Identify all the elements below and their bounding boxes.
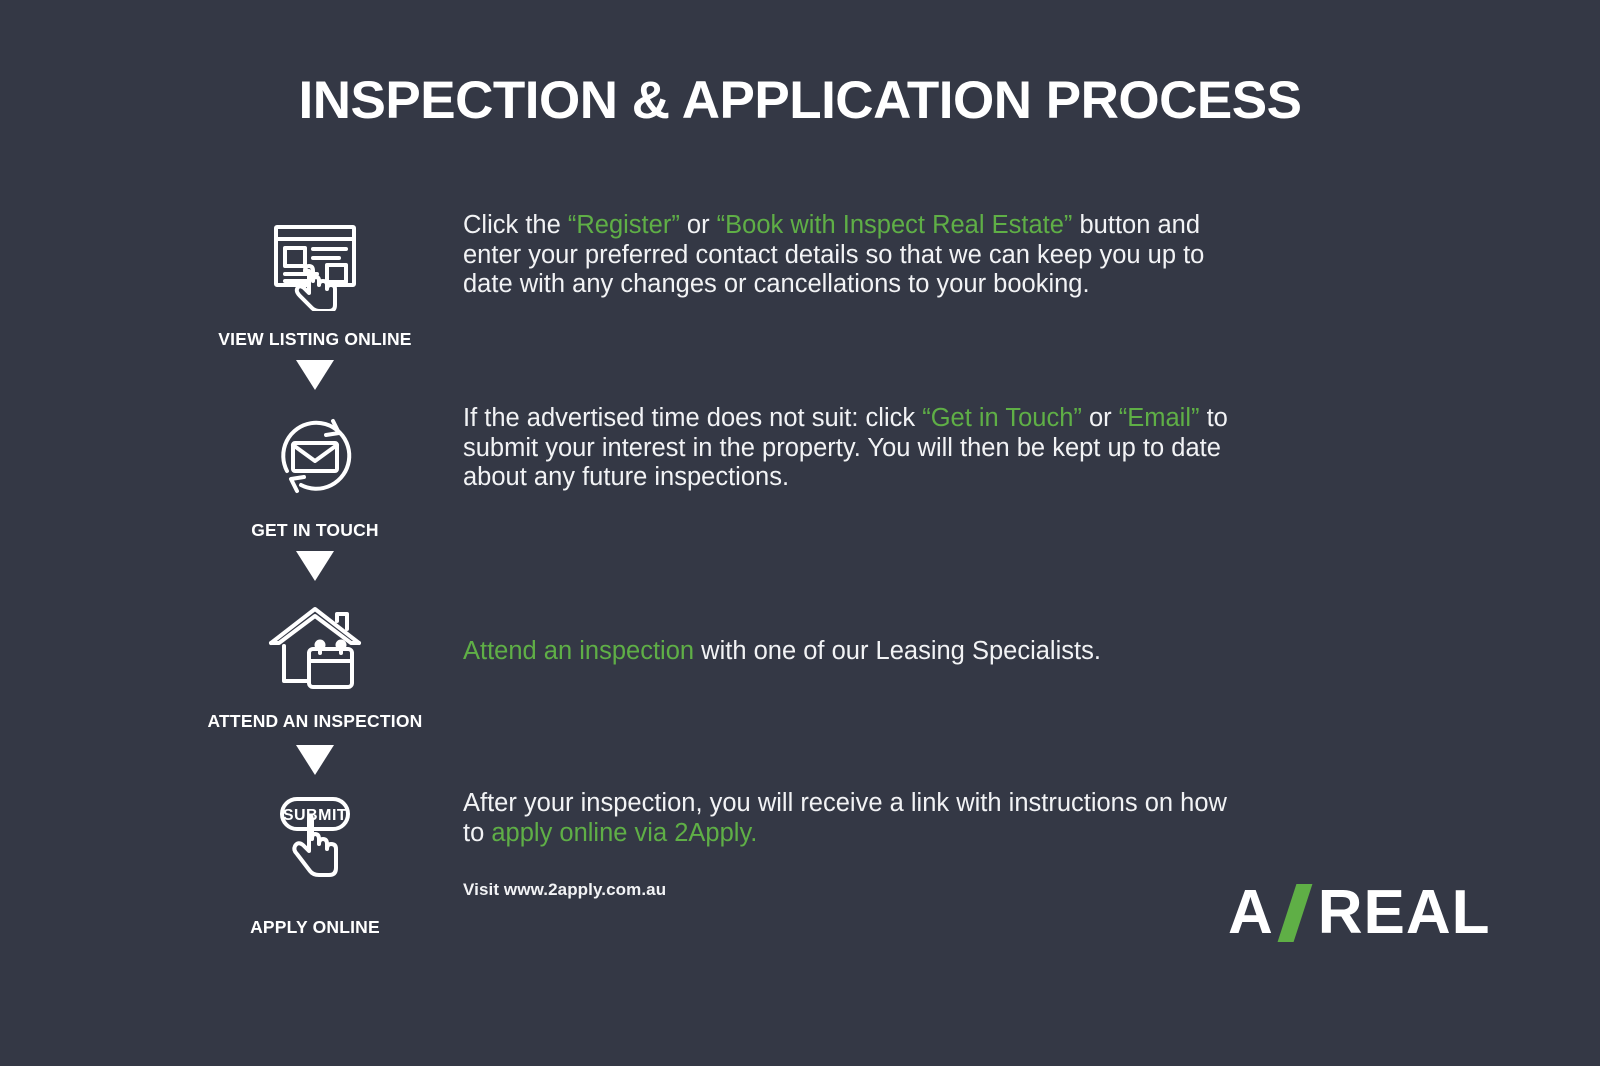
highlighted-phrase: “Get in Touch”	[922, 404, 1082, 432]
house-calendar-icon	[185, 597, 445, 697]
step-label: GET IN TOUCH	[185, 520, 445, 541]
step-description: After your inspection, you will receive …	[463, 789, 1233, 900]
logo-slash-icon	[1277, 884, 1312, 942]
down-arrow-icon	[296, 745, 334, 775]
step-icon-and-label: VIEW LISTING ONLINE	[185, 215, 445, 350]
step-description: Click the “Register” or “Book with Inspe…	[463, 211, 1233, 300]
body-text: with one of our Leasing Specialists.	[694, 637, 1101, 665]
step-description: Attend an inspection with one of our Lea…	[463, 637, 1233, 667]
step-label: VIEW LISTING ONLINE	[185, 329, 445, 350]
down-arrow-icon	[296, 551, 334, 581]
body-text: or	[680, 211, 717, 239]
visit-url-note: Visit www.2apply.com.au	[463, 880, 1233, 900]
step-label: APPLY ONLINE	[185, 917, 445, 938]
highlighted-phrase: “Email”	[1119, 404, 1200, 432]
step-description-text: After your inspection, you will receive …	[463, 789, 1233, 848]
listing-page-click-icon	[185, 215, 445, 315]
highlighted-phrase: Attend an inspection	[463, 637, 694, 665]
highlighted-phrase: “Book with Inspect Real Estate”	[717, 211, 1073, 239]
submit-button-click-icon: SUBMIT	[185, 791, 445, 899]
page-title: INSPECTION & APPLICATION PROCESS	[0, 70, 1600, 131]
highlighted-phrase: apply online via 2Apply.	[491, 819, 757, 847]
infographic-page: INSPECTION & APPLICATION PROCESS	[0, 0, 1600, 1066]
step-label: ATTEND AN INSPECTION	[185, 711, 445, 732]
brand-logo: A REAL	[1228, 877, 1491, 948]
process-step-attend-an-inspection: ATTEND AN INSPECTION Attend an inspectio…	[0, 597, 1600, 745]
step-icon-and-label: GET IN TOUCH	[185, 406, 445, 541]
step-connector	[0, 745, 1600, 791]
body-text: or	[1082, 404, 1119, 432]
body-text: Click the	[463, 211, 568, 239]
step-icon-and-label: ATTEND AN INSPECTION	[185, 597, 445, 732]
process-steps-list: VIEW LISTING ONLINE Click the “Register”…	[0, 215, 1600, 941]
step-connector	[0, 360, 1600, 406]
process-step-get-in-touch: GET IN TOUCH If the advertised time does…	[0, 406, 1600, 551]
step-description: If the advertised time does not suit: cl…	[463, 404, 1233, 493]
process-step-view-listing-online: VIEW LISTING ONLINE Click the “Register”…	[0, 215, 1600, 360]
step-connector	[0, 551, 1600, 597]
body-text: If the advertised time does not suit: cl…	[463, 404, 922, 432]
step-icon-and-label: SUBMIT APPLY ONLINE	[185, 791, 445, 938]
highlighted-phrase: “Register”	[568, 211, 680, 239]
email-refresh-icon	[185, 406, 445, 506]
submit-icon-label: SUBMIT	[283, 807, 347, 824]
down-arrow-icon	[296, 360, 334, 390]
logo-letter-a: A	[1228, 877, 1274, 948]
logo-word-real: REAL	[1318, 877, 1491, 948]
